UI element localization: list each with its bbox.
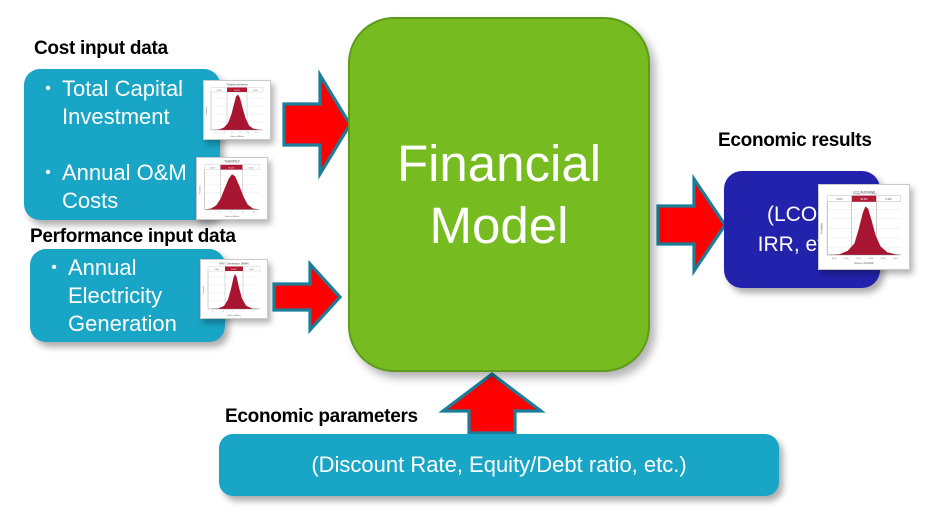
svg-text:90.0%: 90.0%: [861, 198, 869, 201]
diagram-canvas: Cost input data • Total Capital Investme…: [0, 0, 930, 515]
financial-model-label-line2: Model: [397, 195, 601, 257]
svg-text:90.0%: 90.0%: [234, 90, 240, 92]
svg-text:90.0%: 90.0%: [231, 269, 237, 271]
histogram-chart: TotalInvestment 5.0% 90.0% 5.0% 246 8101…: [204, 81, 270, 139]
svg-text:12: 12: [255, 132, 257, 134]
svg-text:4: 4: [224, 132, 225, 134]
svg-text:0.1831: 0.1831: [870, 194, 877, 196]
svg-text:14: 14: [253, 212, 255, 214]
total-investment-chart-thumbnail[interactable]: TotalInvestment 5.0% 90.0% 5.0% 246 8101…: [203, 80, 271, 140]
bullet-dot-icon: •: [40, 254, 68, 282]
cost-bullet-1-label: Total Capital Investment: [62, 75, 214, 131]
svg-text:5.0%: 5.0%: [249, 269, 254, 271]
svg-text:7: 7: [243, 311, 244, 313]
svg-text:5: 5: [233, 311, 234, 313]
svg-text:5.0%: 5.0%: [214, 269, 219, 271]
cost-bullet-2-label: Annual O&M Costs: [62, 159, 214, 215]
svg-text:90.0%: 90.0%: [229, 167, 235, 169]
svg-text:8: 8: [230, 212, 231, 214]
histogram-chart: LCC AUD/kWh 5.0% 90.0% 5.0% 0.1203 0.183…: [819, 185, 909, 269]
financial-model-label-line1: Financial: [397, 133, 601, 195]
svg-text:Probability: Probability: [820, 222, 823, 234]
histogram-chart: NPV / Generation (MWh) 5.0% 90.0% 5.0% 1…: [201, 260, 267, 318]
svg-text:Values in Millions: Values in Millions: [225, 216, 239, 218]
right-arrow-icon: [282, 72, 352, 177]
svg-text:5.0%: 5.0%: [217, 90, 222, 92]
svg-text:0.1203: 0.1203: [854, 194, 861, 196]
svg-text:6: 6: [232, 132, 233, 134]
svg-text:2: 2: [216, 132, 217, 134]
bullet-dot-icon: •: [34, 159, 62, 187]
cost-input-box[interactable]: • Total Capital Investment • Annual O&M …: [24, 69, 220, 220]
performance-input-bullet-list: • Annual Electricity Generation: [40, 249, 219, 342]
arrow-performance-to-model: [272, 261, 342, 333]
svg-text:TotalOPEX: TotalOPEX: [224, 160, 240, 164]
svg-text:TotalInvestment: TotalInvestment: [226, 83, 247, 87]
caption-cost-input-data: Cost input data: [34, 38, 168, 60]
financial-model-box[interactable]: Financial Model: [348, 17, 650, 372]
performance-input-box[interactable]: • Annual Electricity Generation: [30, 249, 225, 342]
arrow-cost-to-model: [282, 72, 352, 177]
bullet-dot-icon: •: [34, 75, 62, 103]
histogram-chart: TotalOPEX 5.0% 90.0% 5.0% 258 1114 Value…: [197, 158, 267, 219]
right-arrow-icon: [656, 176, 728, 274]
svg-text:5.0%: 5.0%: [210, 167, 215, 169]
list-item: • Annual O&M Costs: [34, 159, 214, 215]
svg-text:5.0%: 5.0%: [253, 90, 258, 92]
caption-economic-parameters: Economic parameters: [225, 406, 418, 428]
list-item: • Total Capital Investment: [34, 75, 214, 131]
svg-text:Values in Millions: Values in Millions: [227, 315, 241, 317]
svg-text:9: 9: [253, 311, 254, 313]
svg-text:5.0%: 5.0%: [836, 197, 843, 201]
svg-text:1: 1: [213, 311, 214, 313]
svg-text:5.0%: 5.0%: [885, 197, 892, 201]
arrow-parameters-to-model: [440, 371, 544, 435]
svg-text:11: 11: [242, 212, 244, 214]
generation-chart-thumbnail[interactable]: NPV / Generation (MWh) 5.0% 90.0% 5.0% 1…: [200, 259, 268, 319]
cost-input-bullet-list: • Total Capital Investment • Annual O&M …: [34, 69, 214, 220]
lcc-chart-thumbnail[interactable]: LCC AUD/kWh 5.0% 90.0% 5.0% 0.1203 0.183…: [818, 184, 910, 270]
svg-text:2: 2: [209, 212, 210, 214]
svg-text:Values in AUD/kWh: Values in AUD/kWh: [854, 262, 875, 265]
economic-parameters-label: (Discount Rate, Equity/Debt ratio, etc.): [219, 434, 779, 496]
list-item: • Annual Electricity Generation: [40, 254, 219, 338]
arrow-model-to-results: [656, 176, 728, 274]
up-arrow-icon: [440, 371, 544, 435]
svg-text:5.0%: 5.0%: [249, 167, 254, 169]
total-opex-chart-thumbnail[interactable]: TotalOPEX 5.0% 90.0% 5.0% 258 1114 Value…: [196, 157, 268, 220]
financial-model-label: Financial Model: [397, 133, 601, 257]
svg-text:NPV / Generation (MWh): NPV / Generation (MWh): [219, 262, 249, 266]
svg-text:Values in Millions: Values in Millions: [230, 136, 244, 138]
caption-economic-results: Economic results: [718, 130, 872, 152]
svg-text:10: 10: [247, 132, 249, 134]
economic-parameters-bar[interactable]: (Discount Rate, Equity/Debt ratio, etc.): [219, 434, 779, 496]
svg-text:3: 3: [223, 311, 224, 313]
performance-bullet-1-label: Annual Electricity Generation: [68, 254, 219, 338]
right-arrow-icon: [272, 261, 342, 333]
caption-performance-input-data: Performance input data: [30, 226, 236, 248]
svg-text:5: 5: [220, 212, 221, 214]
svg-text:8: 8: [240, 132, 241, 134]
